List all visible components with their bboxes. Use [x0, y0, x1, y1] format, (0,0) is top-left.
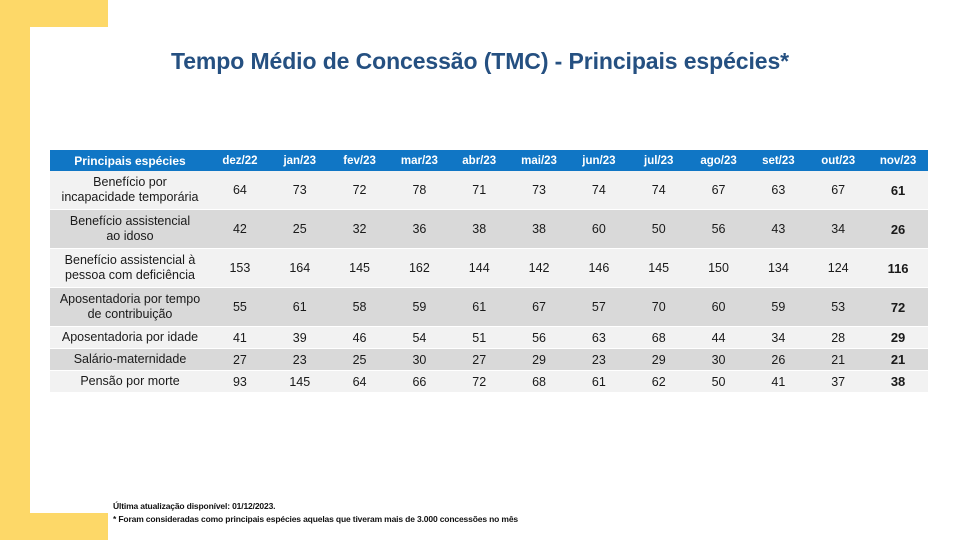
cell-value: 43	[748, 210, 808, 249]
cell-value: 146	[569, 249, 629, 288]
cell-value: 29	[629, 349, 689, 371]
column-header-ago-23: ago/23	[689, 150, 749, 171]
page-title: Tempo Médio de Concessão (TMC) - Princip…	[0, 48, 960, 75]
cell-value: 67	[509, 288, 569, 327]
cell-value: 64	[330, 371, 390, 393]
cell-value: 53	[808, 288, 868, 327]
cell-value: 60	[569, 210, 629, 249]
cell-value: 36	[389, 210, 449, 249]
cell-value: 56	[689, 210, 749, 249]
row-label-line: Aposentadoria por idade	[62, 330, 198, 344]
cell-value: 25	[270, 210, 330, 249]
cell-value: 51	[449, 327, 509, 349]
cell-value: 27	[449, 349, 509, 371]
row-label-species: Benefício assistencial àpessoa com defic…	[50, 249, 210, 288]
cell-value: 72	[330, 171, 390, 210]
cell-value: 21	[808, 349, 868, 371]
cell-value: 23	[270, 349, 330, 371]
row-label-line: ao idoso	[106, 229, 153, 243]
cell-value: 150	[689, 249, 749, 288]
table-row: Benefício porincapacidade temporária6473…	[50, 171, 928, 210]
cell-value: 74	[569, 171, 629, 210]
column-header-mai-23: mai/23	[509, 150, 569, 171]
cell-value: 50	[629, 210, 689, 249]
column-header-nov-23: nov/23	[868, 150, 928, 171]
cell-value: 64	[210, 171, 270, 210]
cell-value: 26	[748, 349, 808, 371]
cell-value: 55	[210, 288, 270, 327]
cell-value: 41	[748, 371, 808, 393]
cell-value: 27	[210, 349, 270, 371]
column-header-out-23: out/23	[808, 150, 868, 171]
cell-value: 68	[629, 327, 689, 349]
cell-value: 68	[509, 371, 569, 393]
cell-value: 38	[449, 210, 509, 249]
row-label-species: Aposentadoria por tempode contribuição	[50, 288, 210, 327]
row-label-species: Salário-maternidade	[50, 349, 210, 371]
cell-value: 78	[389, 171, 449, 210]
cell-value: 21	[868, 349, 928, 371]
table-header: Principais espéciesdez/22jan/23fev/23mar…	[50, 150, 928, 171]
cell-value: 61	[868, 171, 928, 210]
cell-value: 145	[330, 249, 390, 288]
row-label-line: Benefício assistencial	[70, 214, 190, 228]
cell-value: 41	[210, 327, 270, 349]
cell-value: 134	[748, 249, 808, 288]
row-label-line: pessoa com deficiência	[65, 268, 195, 282]
cell-value: 26	[868, 210, 928, 249]
row-label-species: Benefício assistencialao idoso	[50, 210, 210, 249]
cell-value: 59	[389, 288, 449, 327]
cell-value: 71	[449, 171, 509, 210]
footnotes: Última atualização disponível: 01/12/202…	[113, 500, 518, 526]
cell-value: 153	[210, 249, 270, 288]
cell-value: 29	[509, 349, 569, 371]
row-label-species: Benefício porincapacidade temporária	[50, 171, 210, 210]
cell-value: 61	[449, 288, 509, 327]
table-row: Aposentadoria por tempode contribuição55…	[50, 288, 928, 327]
cell-value: 57	[569, 288, 629, 327]
cell-value: 116	[868, 249, 928, 288]
column-header-dez-22: dez/22	[210, 150, 270, 171]
cell-value: 72	[449, 371, 509, 393]
row-label-line: de contribuição	[88, 307, 173, 321]
table-row: Aposentadoria por idade41394654515663684…	[50, 327, 928, 349]
cell-value: 73	[509, 171, 569, 210]
row-label-line: Benefício assistencial à	[65, 253, 196, 267]
cell-value: 73	[270, 171, 330, 210]
table-row: Salário-maternidade272325302729232930262…	[50, 349, 928, 371]
row-label-line: Aposentadoria por tempo	[60, 292, 200, 306]
cell-value: 63	[569, 327, 629, 349]
cell-value: 93	[210, 371, 270, 393]
table-row: Benefício assistencial àpessoa com defic…	[50, 249, 928, 288]
decorative-accent-bar-top	[0, 0, 108, 27]
cell-value: 145	[270, 371, 330, 393]
cell-value: 60	[689, 288, 749, 327]
cell-value: 25	[330, 349, 390, 371]
cell-value: 67	[808, 171, 868, 210]
cell-value: 63	[748, 171, 808, 210]
row-label-line: incapacidade temporária	[62, 190, 199, 204]
cell-value: 62	[629, 371, 689, 393]
cell-value: 38	[509, 210, 569, 249]
cell-value: 162	[389, 249, 449, 288]
row-label-species: Pensão por morte	[50, 371, 210, 393]
cell-value: 59	[748, 288, 808, 327]
table-row: Pensão por morte931456466726861625041373…	[50, 371, 928, 393]
column-header-set-23: set/23	[748, 150, 808, 171]
column-header-jul-23: jul/23	[629, 150, 689, 171]
cell-value: 44	[689, 327, 749, 349]
cell-value: 142	[509, 249, 569, 288]
cell-value: 164	[270, 249, 330, 288]
cell-value: 72	[868, 288, 928, 327]
column-header-abr-23: abr/23	[449, 150, 509, 171]
cell-value: 58	[330, 288, 390, 327]
table-header-row: Principais espéciesdez/22jan/23fev/23mar…	[50, 150, 928, 171]
footnote-species-criteria: * Foram consideradas como principais esp…	[113, 513, 518, 526]
cell-value: 145	[629, 249, 689, 288]
row-label-species: Aposentadoria por idade	[50, 327, 210, 349]
table-row: Benefício assistencialao idoso4225323638…	[50, 210, 928, 249]
row-label-line: Pensão por morte	[80, 374, 179, 388]
decorative-accent-bar-left	[0, 0, 30, 540]
cell-value: 37	[808, 371, 868, 393]
column-header-mar-23: mar/23	[389, 150, 449, 171]
tmc-table: Principais espéciesdez/22jan/23fev/23mar…	[50, 150, 928, 393]
cell-value: 42	[210, 210, 270, 249]
cell-value: 30	[389, 349, 449, 371]
cell-value: 56	[509, 327, 569, 349]
cell-value: 61	[569, 371, 629, 393]
cell-value: 70	[629, 288, 689, 327]
cell-value: 34	[748, 327, 808, 349]
cell-value: 29	[868, 327, 928, 349]
cell-value: 39	[270, 327, 330, 349]
cell-value: 66	[389, 371, 449, 393]
row-label-line: Salário-maternidade	[74, 352, 187, 366]
table-body: Benefício porincapacidade temporária6473…	[50, 171, 928, 393]
cell-value: 30	[689, 349, 749, 371]
column-header-jun-23: jun/23	[569, 150, 629, 171]
cell-value: 124	[808, 249, 868, 288]
column-header-species: Principais espécies	[50, 150, 210, 171]
decorative-accent-bar-bottom	[0, 513, 108, 540]
footnote-last-update: Última atualização disponível: 01/12/202…	[113, 500, 518, 513]
cell-value: 38	[868, 371, 928, 393]
cell-value: 32	[330, 210, 390, 249]
cell-value: 67	[689, 171, 749, 210]
cell-value: 34	[808, 210, 868, 249]
cell-value: 50	[689, 371, 749, 393]
tmc-table-container: Principais espéciesdez/22jan/23fev/23mar…	[50, 150, 928, 393]
cell-value: 144	[449, 249, 509, 288]
row-label-line: Benefício por	[93, 175, 167, 189]
cell-value: 28	[808, 327, 868, 349]
column-header-fev-23: fev/23	[330, 150, 390, 171]
column-header-jan-23: jan/23	[270, 150, 330, 171]
cell-value: 74	[629, 171, 689, 210]
cell-value: 61	[270, 288, 330, 327]
cell-value: 46	[330, 327, 390, 349]
cell-value: 54	[389, 327, 449, 349]
cell-value: 23	[569, 349, 629, 371]
